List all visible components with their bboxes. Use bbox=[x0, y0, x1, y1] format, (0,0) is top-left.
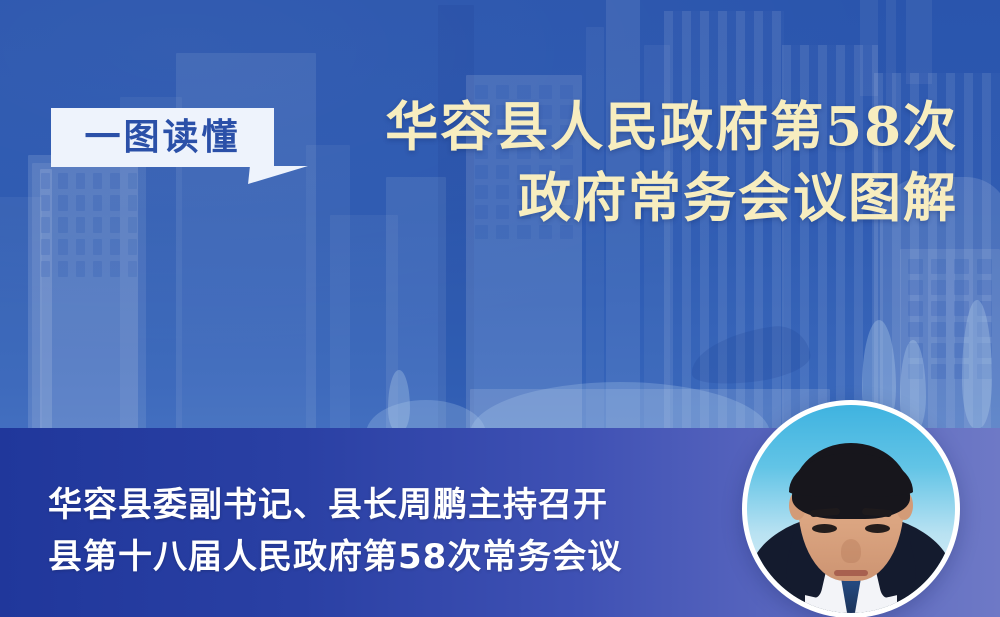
infographic-poster: 一图读懂 华容县人民政府第58次 政府常务会议图解 华容县委副书记、县长周鹏主持… bbox=[0, 0, 1000, 617]
nose-shape bbox=[841, 539, 861, 563]
banner-caption: 华容县委副书记、县长周鹏主持召开 县第十八届人民政府第58次常务会议 bbox=[48, 480, 622, 583]
page-title-line1: 华容县人民政府第58次 bbox=[385, 96, 958, 158]
banner-caption-line1: 华容县委副书记、县长周鹏主持召开 bbox=[48, 480, 622, 532]
avatar-photo bbox=[747, 405, 955, 613]
mouth-shape bbox=[834, 570, 868, 576]
avatar bbox=[742, 400, 960, 617]
page-title: 华容县人民政府第58次 政府常务会议图解 bbox=[358, 92, 958, 234]
page-title-line2: 政府常务会议图解 bbox=[358, 163, 958, 234]
banner-caption-line2: 县第十八届人民政府第58次常务会议 bbox=[48, 532, 622, 584]
eye-left bbox=[812, 524, 837, 533]
eye-right bbox=[865, 524, 890, 533]
speech-bubble-tail-icon bbox=[248, 166, 308, 184]
read-in-one-picture-tag[interactable]: 一图读懂 bbox=[51, 108, 274, 167]
tag-label: 一图读懂 bbox=[84, 120, 240, 156]
